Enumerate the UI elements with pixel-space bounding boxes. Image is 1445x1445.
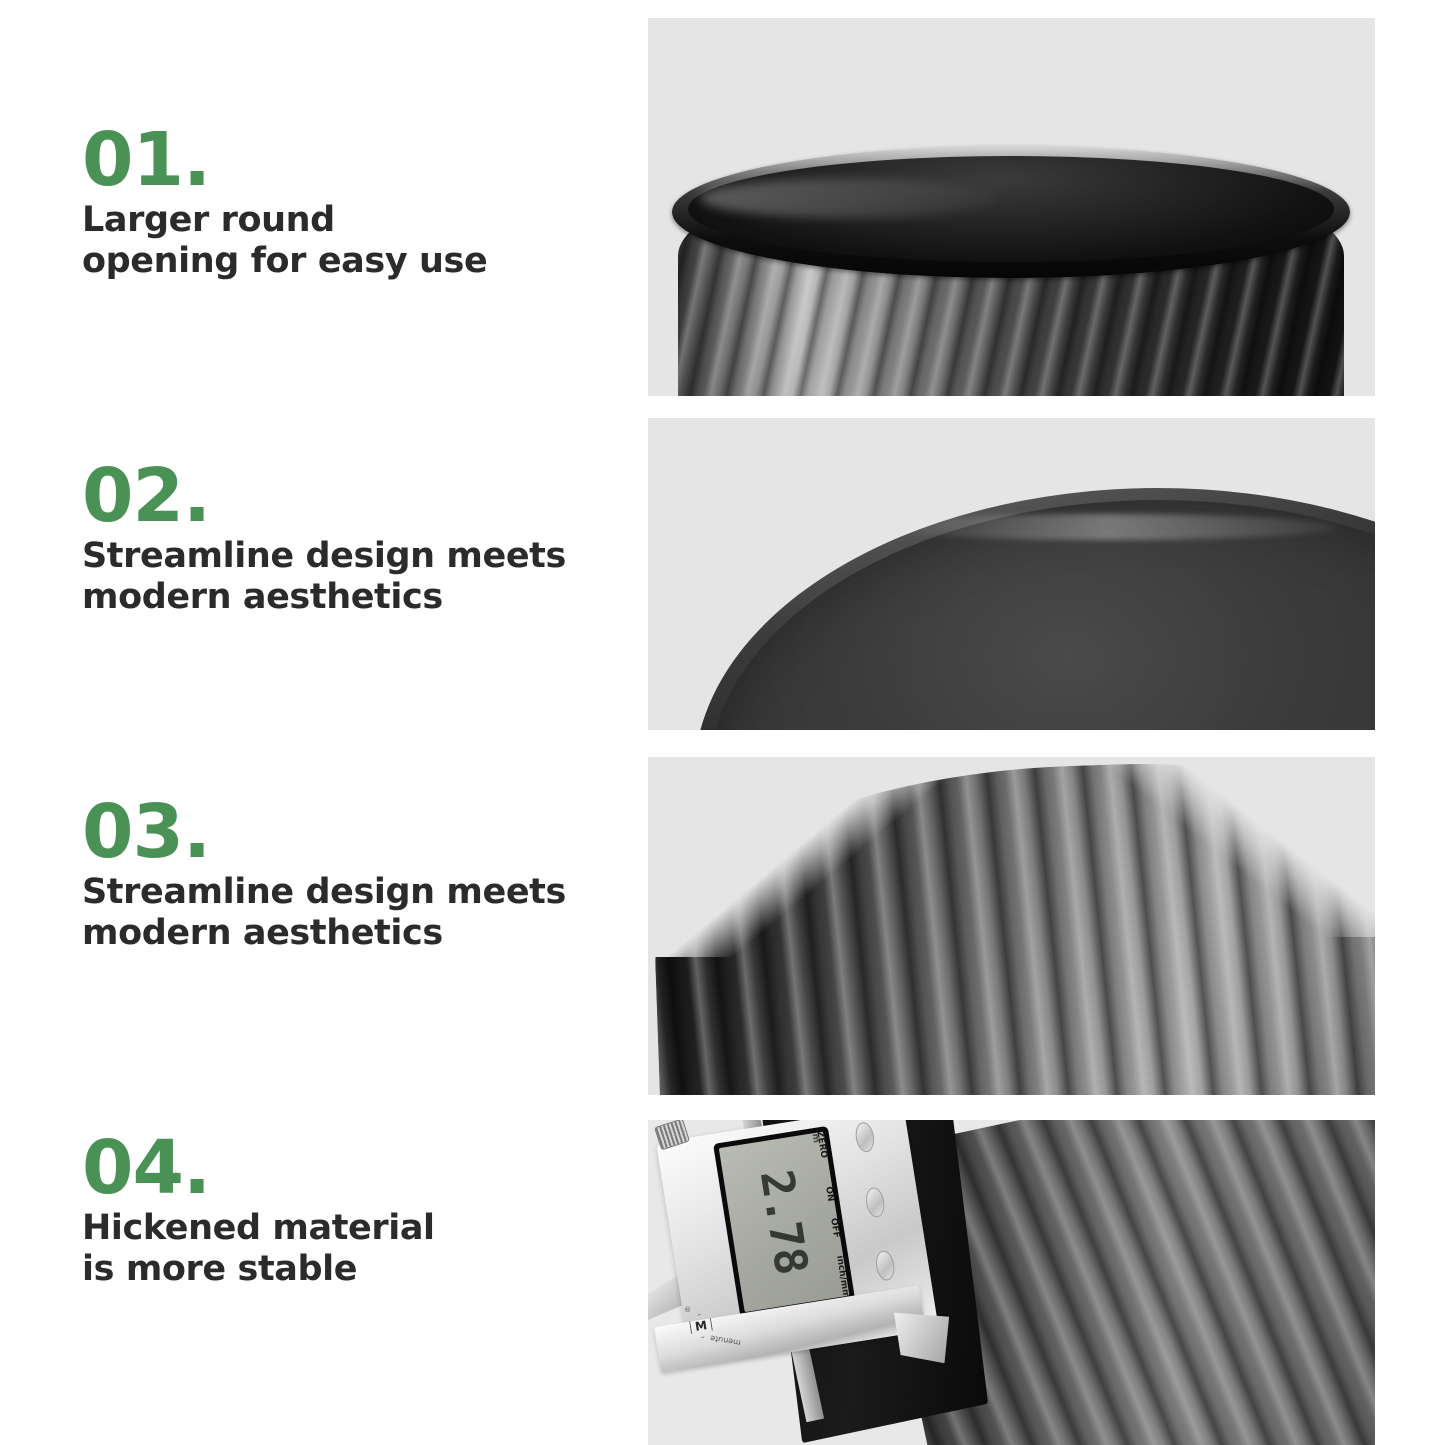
feature-item-02: 02. Streamline design meets modern aesth… (82, 462, 642, 619)
caliper-label-on: ON (823, 1186, 835, 1203)
bin-edge-highlight (878, 514, 1338, 540)
feature-image-01 (648, 18, 1375, 396)
bin-rim-highlight (700, 178, 1000, 218)
bin-opening-photo (648, 18, 1375, 396)
feature-title-03: Streamline design meets modern aesthetic… (82, 872, 642, 955)
feature-image-column: 2.78 mm ZERO ON OFF inch/mm (648, 0, 1375, 1445)
feature-image-04: 2.78 mm ZERO ON OFF inch/mm (648, 1120, 1375, 1445)
caliper-reading-value: 2.78 (750, 1166, 819, 1277)
feature-number-02: 02. (82, 462, 642, 530)
feature-image-03 (648, 757, 1375, 1095)
feature-number-04: 04. (82, 1134, 642, 1202)
bin-edge-photo (648, 418, 1375, 730)
bin-flutes-photo (648, 757, 1375, 1095)
caliper-measurement-photo: 2.78 mm ZERO ON OFF inch/mm (648, 1120, 1375, 1445)
caliper-thumbwheel-icon (654, 1120, 690, 1150)
feature-item-04: 04. Hickened material is more stable (82, 1134, 642, 1291)
feature-item-01: 01. Larger round opening for easy use (82, 126, 642, 283)
photo-corner-mask-right (1105, 757, 1375, 937)
infographic-page: 01. Larger round opening for easy use 02… (0, 0, 1445, 1445)
feature-image-02 (648, 418, 1375, 730)
feature-item-03: 03. Streamline design meets modern aesth… (82, 798, 642, 955)
photo-corner-mask-left (648, 757, 968, 957)
feature-list: 01. Larger round opening for easy use 02… (82, 0, 642, 1445)
feature-number-03: 03. (82, 798, 642, 866)
feature-title-01: Larger round opening for easy use (82, 200, 642, 283)
feature-title-02: Streamline design meets modern aesthetic… (82, 536, 642, 619)
caliper-registered-mark: ® (684, 1306, 691, 1314)
feature-title-04: Hickened material is more stable (82, 1208, 642, 1291)
feature-number-01: 01. (82, 126, 642, 194)
